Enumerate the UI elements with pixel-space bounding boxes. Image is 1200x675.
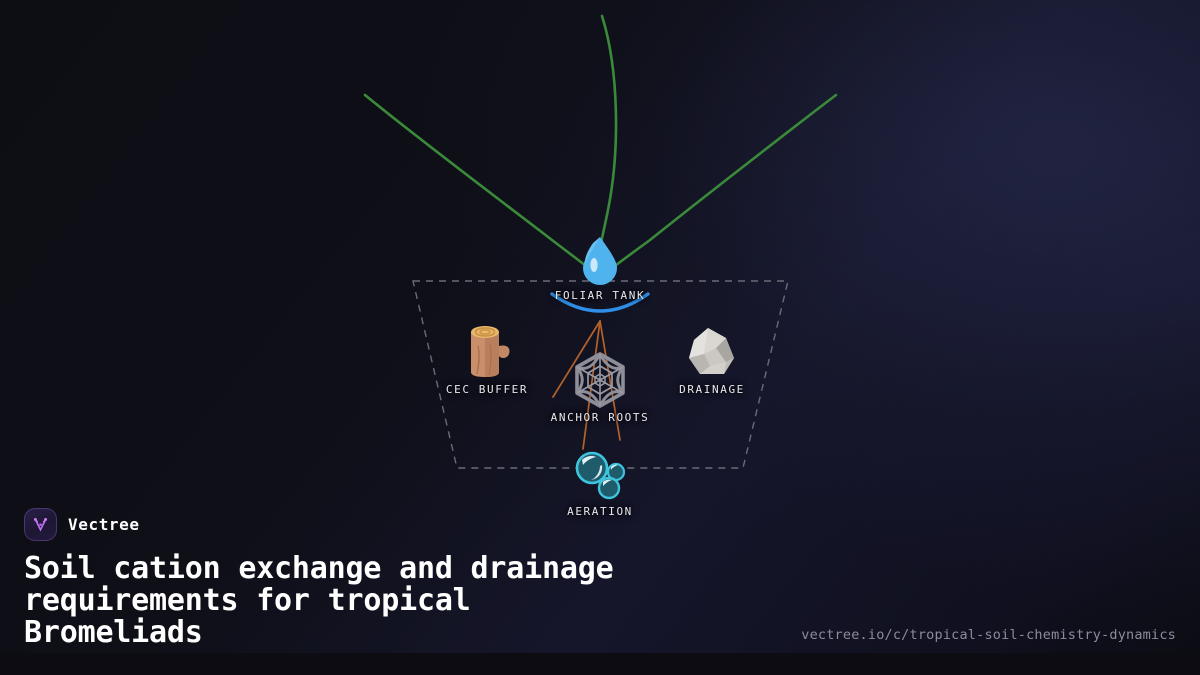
node-label-drainage: DRAINAGE (679, 383, 745, 396)
page-title: Soil cation exchange and drainage requir… (24, 553, 784, 649)
vectree-sprout-logo-icon (24, 508, 57, 541)
brand-name: Vectree (68, 515, 140, 534)
node-label-cec-buffer: CEC BUFFER (446, 383, 528, 396)
sprout-glyph (30, 514, 51, 535)
source-url: vectree.io/c/tropical-soil-chemistry-dyn… (801, 627, 1176, 643)
node-label-foliar-tank: FOLIAR TANK (555, 289, 645, 302)
brand-row: Vectree (24, 508, 1176, 541)
node-label-anchor-roots: ANCHOR ROOTS (551, 411, 650, 424)
infographic-canvas: FOLIAR TANK CEC BUFFER ANCHOR ROOTS DRAI… (0, 0, 1200, 675)
